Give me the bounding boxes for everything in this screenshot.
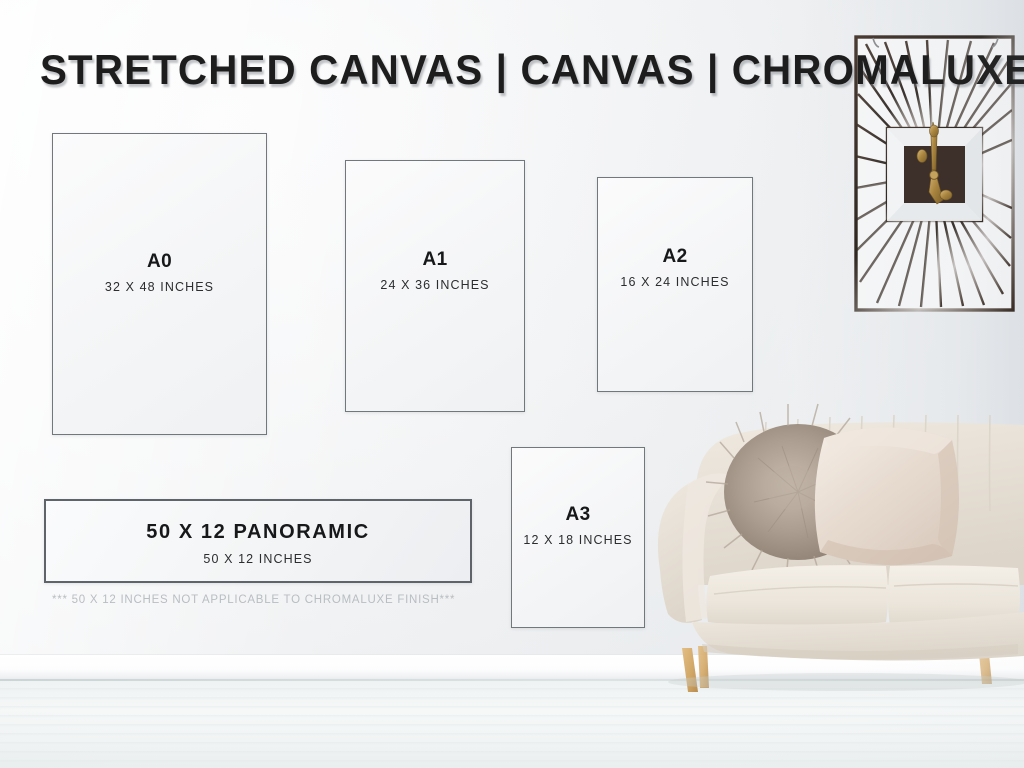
frame-a0-size: 32 X 48 INCHES	[105, 280, 214, 294]
frame-panoramic-labels: 50 X 12 PANORAMIC 50 X 12 INCHES	[46, 521, 470, 566]
room-scene: STRETCHED CANVAS | CANVAS | CHROMALUXE A…	[0, 0, 1024, 768]
chromaluxe-disclaimer: *** 50 X 12 INCHES NOT APPLICABLE TO CHR…	[52, 594, 455, 606]
frame-a0[interactable]: A0 32 X 48 INCHES	[52, 133, 267, 435]
frame-a1-labels: A1 24 X 36 INCHES	[346, 249, 524, 292]
frame-panoramic[interactable]: 50 X 12 PANORAMIC 50 X 12 INCHES	[44, 499, 472, 583]
frame-a0-labels: A0 32 X 48 INCHES	[53, 251, 266, 294]
frame-a1[interactable]: A1 24 X 36 INCHES	[345, 160, 525, 412]
frame-a3-labels: A3 12 X 18 INCHES	[512, 504, 644, 547]
frame-a3-size: 12 X 18 INCHES	[523, 533, 632, 547]
frame-panoramic-size: 50 X 12 INCHES	[203, 552, 312, 566]
frame-a1-size: 24 X 36 INCHES	[380, 278, 489, 292]
frame-a2-name: A2	[662, 246, 687, 268]
sofa	[648, 380, 1024, 692]
frame-a0-name: A0	[147, 251, 172, 273]
frame-panoramic-name: 50 X 12 PANORAMIC	[146, 521, 370, 544]
frame-a3[interactable]: A3 12 X 18 INCHES	[511, 447, 645, 628]
frame-a1-name: A1	[422, 249, 447, 271]
frame-a2-size: 16 X 24 INCHES	[620, 275, 729, 289]
frame-a2[interactable]: A2 16 X 24 INCHES	[597, 177, 753, 392]
frame-a3-name: A3	[565, 504, 590, 526]
frame-a2-labels: A2 16 X 24 INCHES	[598, 246, 752, 289]
page-title: STRETCHED CANVAS | CANVAS | CHROMALUXE	[40, 48, 1024, 92]
floor	[0, 679, 1024, 768]
